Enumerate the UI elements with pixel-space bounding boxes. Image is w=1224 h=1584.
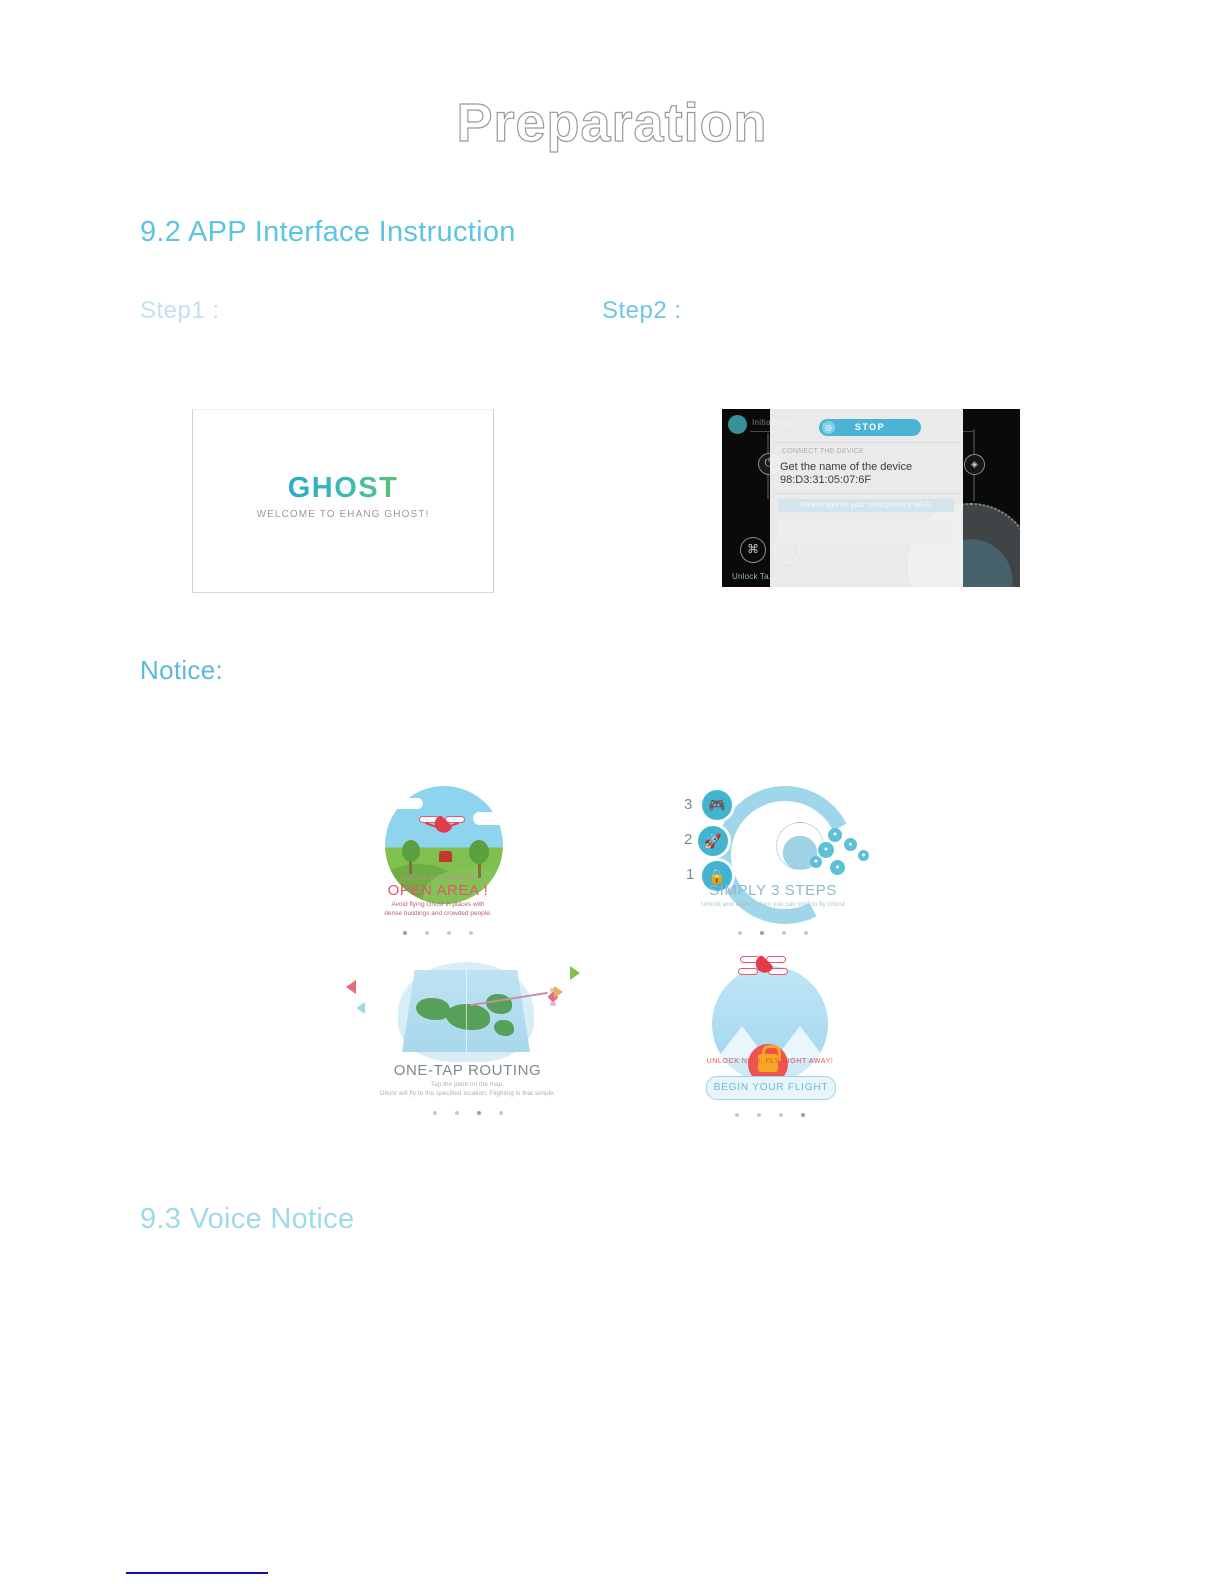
card-caption-line1: Unlock and takeoff, then you can start t… <box>668 900 878 909</box>
carousel-dot[interactable] <box>433 1111 437 1115</box>
lock-icon[interactable]: ⌘ <box>740 537 766 563</box>
carousel-dots[interactable] <box>690 1104 850 1122</box>
notice-heading: Notice: <box>140 655 223 686</box>
map-fold-crease <box>466 970 467 1052</box>
dialog-section-label: CONNECT THE DEVICE <box>782 448 864 455</box>
carousel-dot[interactable] <box>499 1111 503 1115</box>
tree-icon <box>402 840 420 862</box>
land-shape <box>494 1020 514 1036</box>
cloud-icon <box>473 812 503 825</box>
carousel-dot[interactable] <box>477 1111 481 1115</box>
dialog-divider-mid <box>774 493 959 494</box>
rocket-icon[interactable]: 🚀 <box>698 826 728 856</box>
notice-card-begin-flight: UNLOCK NOW, FLY RIGHT AWAY! BEGIN YOUR F… <box>690 958 850 1118</box>
card-caption: Avoid flying Ghost in places with dense … <box>333 900 543 918</box>
section-heading-9-3: 9.3 Voice Notice <box>140 1203 354 1236</box>
dialog-input-box[interactable] <box>778 519 954 545</box>
tree-icon <box>469 840 489 864</box>
carousel-dot[interactable] <box>738 931 742 935</box>
carousel-dot[interactable] <box>760 931 764 935</box>
land-shape <box>446 1004 490 1030</box>
notice-card-simply-3-steps: 3 🎮 2 🚀 1 🔒 ● ● ● ● ● ● SIMPLY 3 STEPS U… <box>668 780 878 932</box>
footnote-separator <box>126 1572 268 1574</box>
step-number-2: 2 <box>684 831 692 848</box>
gamepad-icon[interactable]: 🎮 <box>702 790 732 820</box>
carousel-dot[interactable] <box>469 931 473 935</box>
step2-screenshot-app-dialog: Initializing ⏻ ◈ ⌘ Unlock Ta... STOP ◎ C… <box>722 409 1020 587</box>
step1-label: Step1 : <box>140 297 220 325</box>
splash-content: GHOST WELCOME TO EHANG GHOST! <box>193 472 493 520</box>
card-caption-line1: Tap the point on the map, <box>340 1080 595 1089</box>
status-indicator-dot <box>728 415 747 434</box>
dialog-device-line2: 98:D3:31:05:07:6F <box>780 474 912 487</box>
step2-label: Step2 : <box>602 297 682 325</box>
drone-icon <box>740 956 786 974</box>
stop-icon: ◎ <box>822 421 835 434</box>
feature-bubble: ● <box>844 838 857 851</box>
carousel-dot[interactable] <box>801 1113 805 1117</box>
card-caption: Tap the point on the map, Ghost will fly… <box>340 1080 595 1098</box>
card-title: SIMPLY 3 STEPS <box>668 882 878 899</box>
ghost-logo-text: GHOST <box>288 472 399 505</box>
confetti-flag <box>570 966 580 980</box>
carousel-dot[interactable] <box>455 1111 459 1115</box>
carousel-dot[interactable] <box>425 931 429 935</box>
dialog-wifi-hint[interactable]: Please turn on your smartphone's Wi-Fi <box>778 499 954 512</box>
begin-your-flight-button[interactable]: BEGIN YOUR FLIGHT <box>706 1076 836 1100</box>
land-shape <box>416 998 450 1020</box>
carousel-dot[interactable] <box>403 931 407 935</box>
dialog-wifi-hint-text: Please turn on your smartphone's Wi-Fi <box>778 499 954 512</box>
splash-subtitle: WELCOME TO EHANG GHOST! <box>193 509 493 520</box>
carousel-dot[interactable] <box>447 931 451 935</box>
carousel-dot[interactable] <box>804 931 808 935</box>
card-title: UNLOCK NOW, FLY RIGHT AWAY! <box>690 1058 850 1065</box>
carousel-dot[interactable] <box>779 1113 783 1117</box>
feature-bubble: ● <box>858 850 869 861</box>
carousel-dot[interactable] <box>757 1113 761 1117</box>
feature-bubble: ● <box>810 856 822 868</box>
page-title: Preparation <box>0 92 1224 154</box>
carousel-dots[interactable] <box>333 922 543 940</box>
step-number-3: 3 <box>684 796 692 813</box>
section-heading-9-2: 9.2 APP Interface Instruction <box>140 216 516 249</box>
confetti-flag <box>554 986 563 998</box>
carousel-dot[interactable] <box>782 931 786 935</box>
notice-card-open-area: PLEASE FLY GHOST IN OPEN AREA ! Avoid fl… <box>333 780 543 930</box>
map-illustration <box>402 970 530 1052</box>
step-number-1: 1 <box>686 866 694 883</box>
card-caption: Unlock and takeoff, then you can start t… <box>668 900 878 909</box>
feature-bubble: ● <box>828 828 842 842</box>
dialog-divider-top <box>774 442 959 443</box>
house-icon <box>439 851 452 862</box>
rotor-icon <box>550 1002 556 1006</box>
carousel-dot[interactable] <box>735 1113 739 1117</box>
card-title: OPEN AREA ! <box>333 882 543 899</box>
card-caption-line2: Ghost will fly to the specified location… <box>340 1089 595 1098</box>
diamond-icon[interactable]: ◈ <box>964 454 985 475</box>
feature-bubble: ● <box>818 842 834 858</box>
confetti-flag <box>356 1002 365 1014</box>
carousel-dots[interactable] <box>668 922 878 940</box>
cloud-icon <box>393 798 423 809</box>
card-caption-line1: Avoid flying Ghost in places with <box>333 900 543 909</box>
confetti-flag <box>346 980 356 994</box>
dialog-device-line1: Get the name of the device <box>780 461 912 474</box>
step1-screenshot-ghost-splash: GHOST WELCOME TO EHANG GHOST! <box>192 409 494 593</box>
notice-card-one-tap-routing: ONE-TAP ROUTING Tap the point on the map… <box>340 958 595 1118</box>
pairing-dialog: STOP ◎ CONNECT THE DEVICE Get the name o… <box>770 409 963 587</box>
dialog-device-name: Get the name of the device 98:D3:31:05:0… <box>780 461 912 487</box>
feature-bubble: ● <box>830 860 845 875</box>
card-caption-line2: dense buildings and crowded people. <box>333 909 543 918</box>
rotor-icon <box>738 968 758 975</box>
carousel-dots[interactable] <box>340 1102 595 1120</box>
card-title: ONE-TAP ROUTING <box>340 1062 595 1079</box>
drone-icon <box>419 816 465 834</box>
